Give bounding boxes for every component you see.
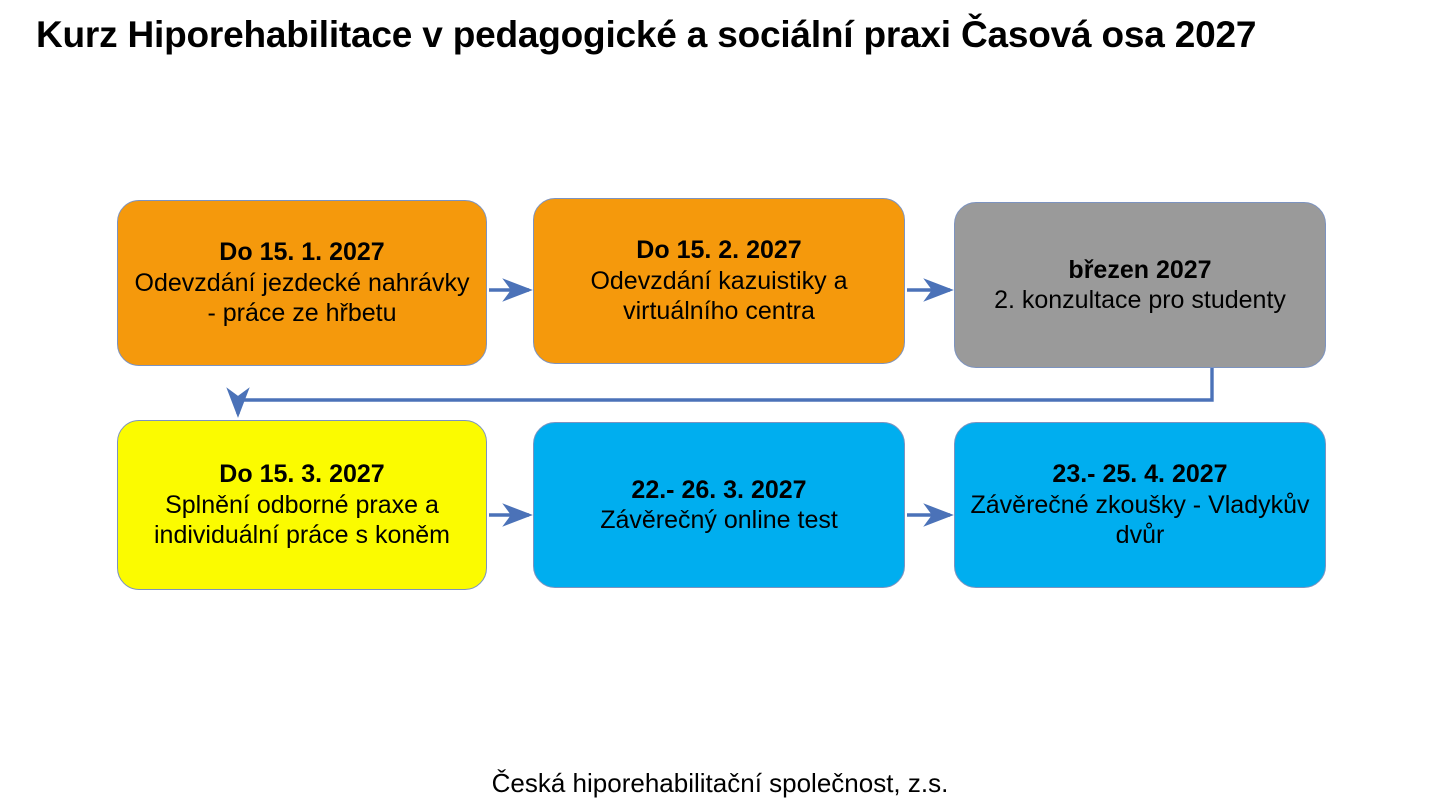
timeline-step-5-date: 22.- 26. 3. 2027 [631, 475, 806, 506]
timeline-step-2[interactable]: Do 15. 2. 2027 Odevzdání kazuistiky a vi… [533, 198, 905, 364]
timeline-step-4-description: Splnění odborné praxe a individuální prá… [130, 490, 474, 551]
timeline-step-1-date: Do 15. 1. 2027 [219, 237, 384, 268]
timeline-step-5[interactable]: 22.- 26. 3. 2027 Závěrečný online test [533, 422, 905, 588]
connector-layer [0, 0, 1440, 810]
timeline-step-2-description: Odevzdání kazuistiky a virtuálního centr… [546, 266, 892, 327]
timeline-diagram: Kurz Hiporehabilitace v pedagogické a so… [0, 0, 1440, 810]
footer-organization: Česká hiporehabilitační společnost, z.s. [0, 768, 1440, 799]
timeline-step-6[interactable]: 23.- 25. 4. 2027 Závěrečné zkoušky - Vla… [954, 422, 1326, 588]
timeline-step-4[interactable]: Do 15. 3. 2027 Splnění odborné praxe a i… [117, 420, 487, 590]
timeline-step-1-description: Odevzdání jezdecké nahrávky - práce ze h… [130, 268, 474, 329]
timeline-step-3-description: 2. konzultace pro studenty [994, 285, 1286, 316]
timeline-step-6-description: Závěrečné zkoušky - Vladykův dvůr [967, 490, 1313, 551]
timeline-step-3-date: březen 2027 [1068, 255, 1211, 286]
timeline-step-3[interactable]: březen 2027 2. konzultace pro studenty [954, 202, 1326, 368]
timeline-step-5-description: Závěrečný online test [600, 505, 838, 536]
timeline-step-1[interactable]: Do 15. 1. 2027 Odevzdání jezdecké nahráv… [117, 200, 487, 366]
timeline-step-6-date: 23.- 25. 4. 2027 [1052, 459, 1227, 490]
connector-arrow-3-to-4 [238, 368, 1212, 414]
timeline-step-4-date: Do 15. 3. 2027 [219, 459, 384, 490]
timeline-step-2-date: Do 15. 2. 2027 [636, 235, 801, 266]
page-title: Kurz Hiporehabilitace v pedagogické a so… [36, 14, 1412, 57]
